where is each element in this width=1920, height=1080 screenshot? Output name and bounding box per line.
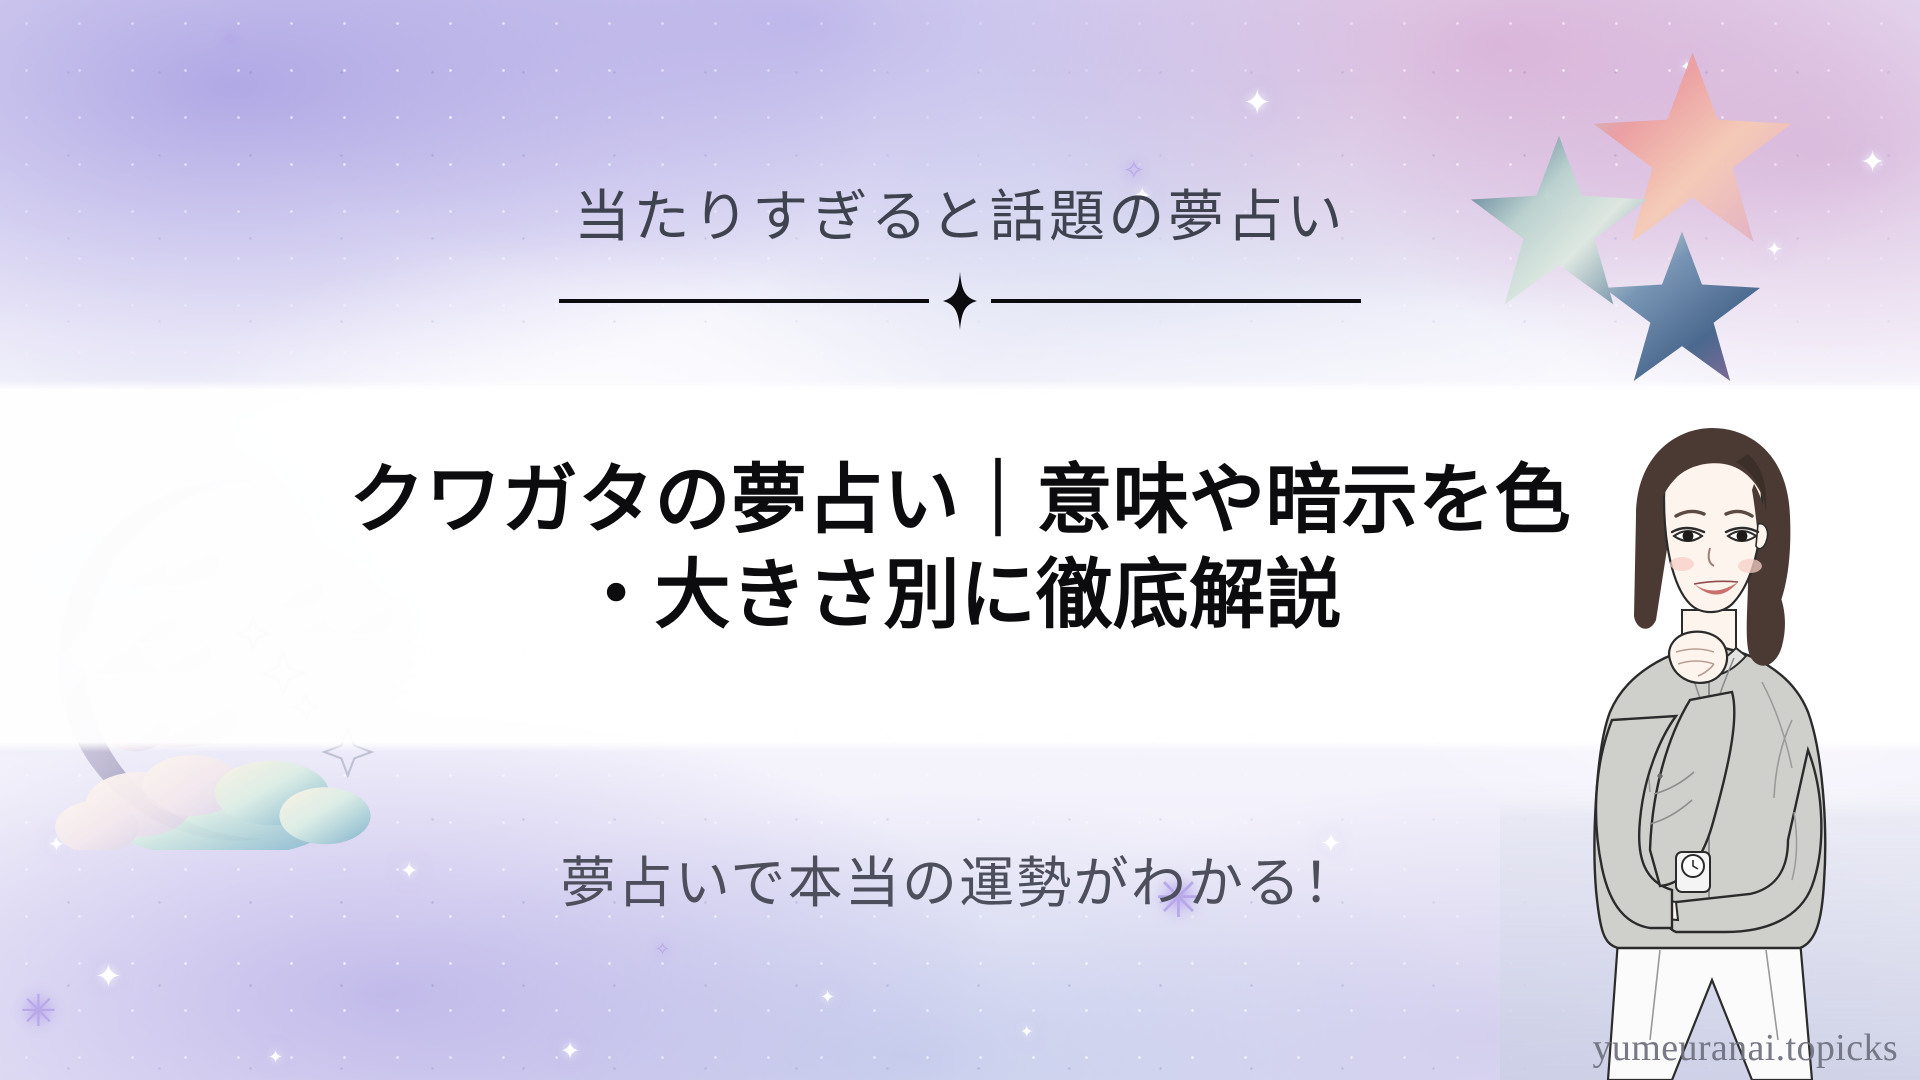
sparkle-icon: ✦ bbox=[820, 988, 835, 1006]
sparkle-icon: ✦ bbox=[560, 1040, 580, 1064]
sparkle-icon: ✳ bbox=[20, 990, 57, 1034]
sparkle-icon: ✦ bbox=[1020, 1025, 1033, 1041]
tagline-block: 当たりすぎると話題の夢占い bbox=[0, 188, 1920, 330]
sparkle-icon: ✦ bbox=[268, 1048, 283, 1066]
subtagline-text: 夢占いで本当の運勢がわかる！ bbox=[0, 838, 1920, 918]
divider-rule-left bbox=[559, 299, 929, 303]
four-point-sparkle-icon bbox=[943, 272, 977, 330]
sparkle-icon: ✧ bbox=[655, 940, 670, 958]
page-title-line-1: クワガタの夢占い｜意味や暗示を色 bbox=[120, 452, 1800, 547]
sparkle-icon: ✦ bbox=[1860, 148, 1885, 178]
divider-rule-right bbox=[991, 299, 1361, 303]
tagline-divider bbox=[0, 272, 1920, 330]
sparkle-icon: ✧ bbox=[1123, 157, 1145, 183]
sparkle-icon: ✦ bbox=[1243, 86, 1272, 120]
sparkle-icon: ✦ bbox=[95, 960, 122, 992]
page-title: クワガタの夢占い｜意味や暗示を色 ・大きさ別に徹底解説 bbox=[0, 452, 1920, 642]
sparkle-icon: ✧ bbox=[222, 30, 239, 50]
watermark-text: yumeuranai.topicks bbox=[1593, 1026, 1898, 1070]
banner-image: ✦ ✦ ✧ ✦ ✦ ✦ ✦ ✧ ✳ ✦ ✦ ✦ ✳ ✦ ✦ ✦ ✦ ✦ ✧ bbox=[0, 0, 1920, 1080]
page-title-line-2: ・大きさ別に徹底解説 bbox=[120, 547, 1800, 642]
tagline-text: 当たりすぎると話題の夢占い bbox=[0, 188, 1920, 250]
sparkle-icon: ✦ bbox=[1680, 60, 1693, 76]
